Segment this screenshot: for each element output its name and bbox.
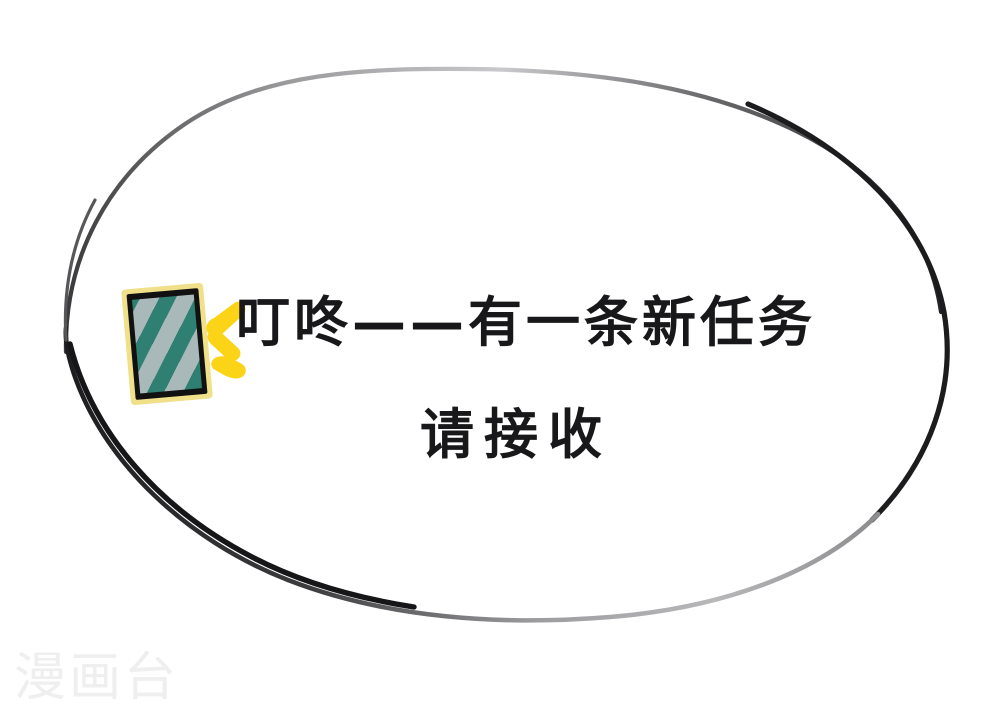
balloon-text-block: 叮咚——有一条新任务 请接收 [232,296,932,462]
phone-screen [132,294,202,393]
balloon-stroke-left [65,200,95,340]
balloon-text-line-2: 请接收 [232,408,932,462]
balloon-text-line-1: 叮咚——有一条新任务 [232,296,932,350]
phone-frame [127,288,208,400]
comic-panel: 叮咚——有一条新任务 请接收 漫画台 [0,0,1000,717]
watermark: 漫画台 [14,652,179,704]
